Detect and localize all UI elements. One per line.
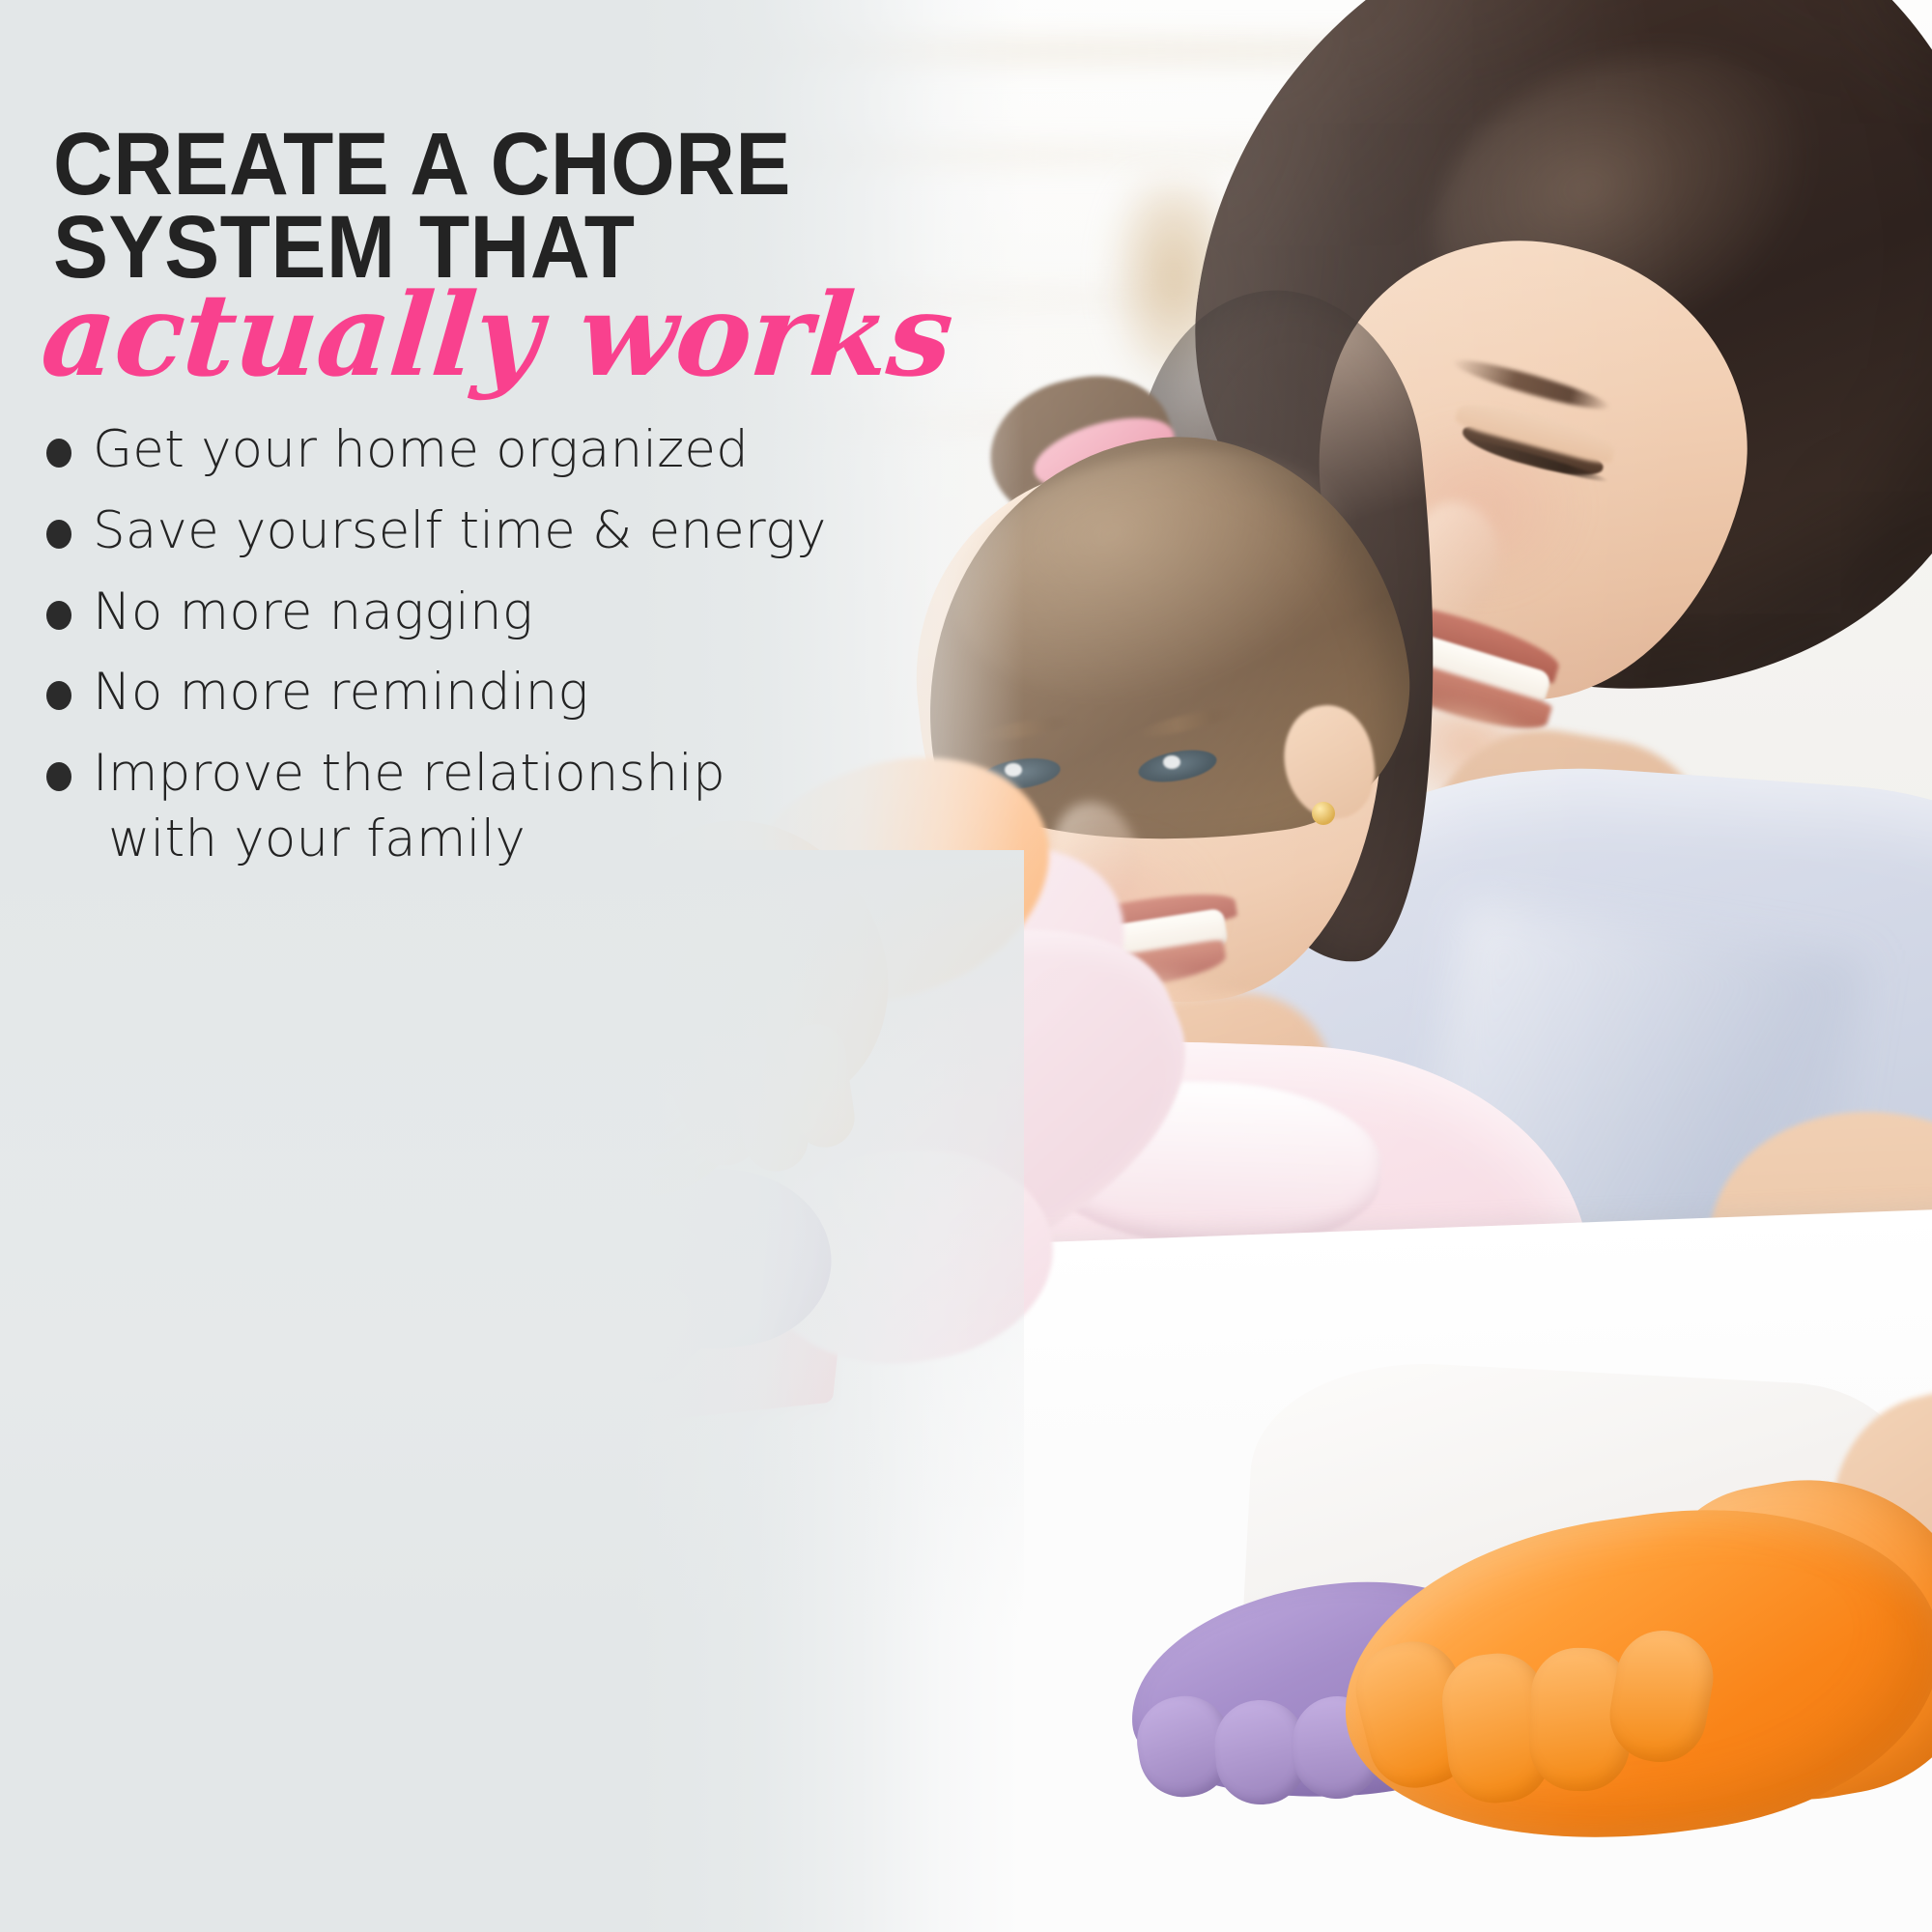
list-item: Save yourself time & energy (46, 498, 1012, 564)
headline-script-accent: actually works (38, 278, 956, 392)
girl-earring (1312, 802, 1335, 825)
bullet-dot-icon (46, 681, 71, 710)
girl-eye-catchlight (1163, 755, 1180, 769)
benefit-text: No more nagging (93, 580, 533, 645)
bullet-dot-icon (46, 762, 71, 791)
benefit-text-line-2: with your family (93, 807, 725, 872)
page-title: CREATE A CHORE SYSTEM THAT (53, 124, 916, 289)
list-item: Improve the relationship with your famil… (46, 741, 1012, 872)
bullet-dot-icon (46, 520, 71, 549)
poster-canvas: CREATE A CHORE SYSTEM THAT actually work… (0, 0, 1932, 1932)
benefit-text-line-1: Improve the relationship (93, 744, 725, 803)
benefits-list: Get your home organized Save yourself ti… (46, 417, 1012, 888)
benefit-text: Improve the relationship with your famil… (93, 741, 725, 872)
bullet-dot-icon (46, 439, 71, 468)
benefit-text: Get your home organized (93, 417, 749, 483)
benefit-text: Save yourself time & energy (93, 498, 827, 564)
list-item: No more reminding (46, 660, 1012, 725)
list-item: Get your home organized (46, 417, 1012, 483)
benefit-text: No more reminding (93, 660, 588, 725)
bullet-dot-icon (46, 601, 71, 630)
list-item: No more nagging (46, 580, 1012, 645)
